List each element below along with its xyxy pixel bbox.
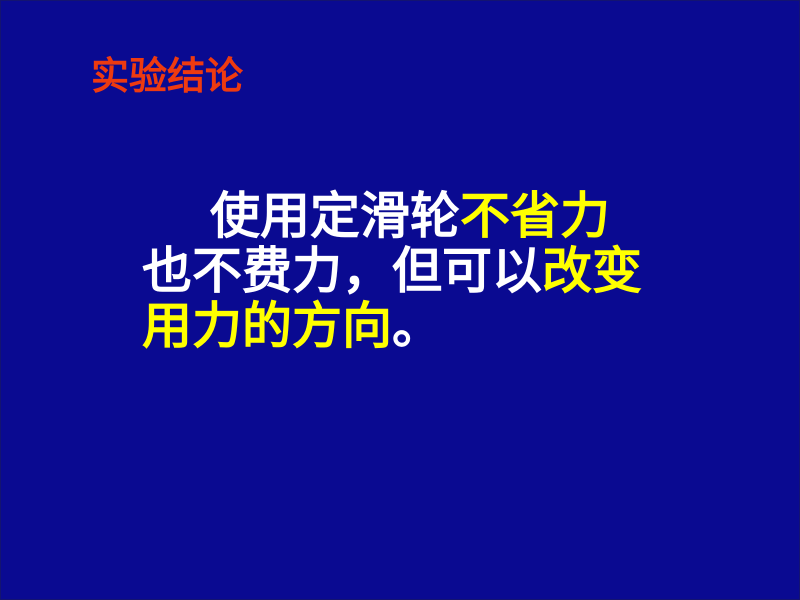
slide-canvas: 实验结论 使用定滑轮不省力也不费力，但可以改变用力的方向。 bbox=[0, 0, 800, 600]
body-run-2-highlight: 不省力 bbox=[460, 187, 610, 245]
body-run-5: 。 bbox=[392, 297, 442, 355]
body-run-1: 使用定滑轮 bbox=[210, 187, 460, 245]
conclusion-paragraph: 使用定滑轮不省力也不费力，但可以改变用力的方向。 bbox=[142, 189, 647, 354]
body-text-block: 使用定滑轮不省力也不费力，但可以改变用力的方向。 bbox=[142, 189, 647, 354]
body-run-3: 也不费力，但可以 bbox=[142, 242, 542, 300]
page-title: 实验结论 bbox=[91, 57, 243, 95]
